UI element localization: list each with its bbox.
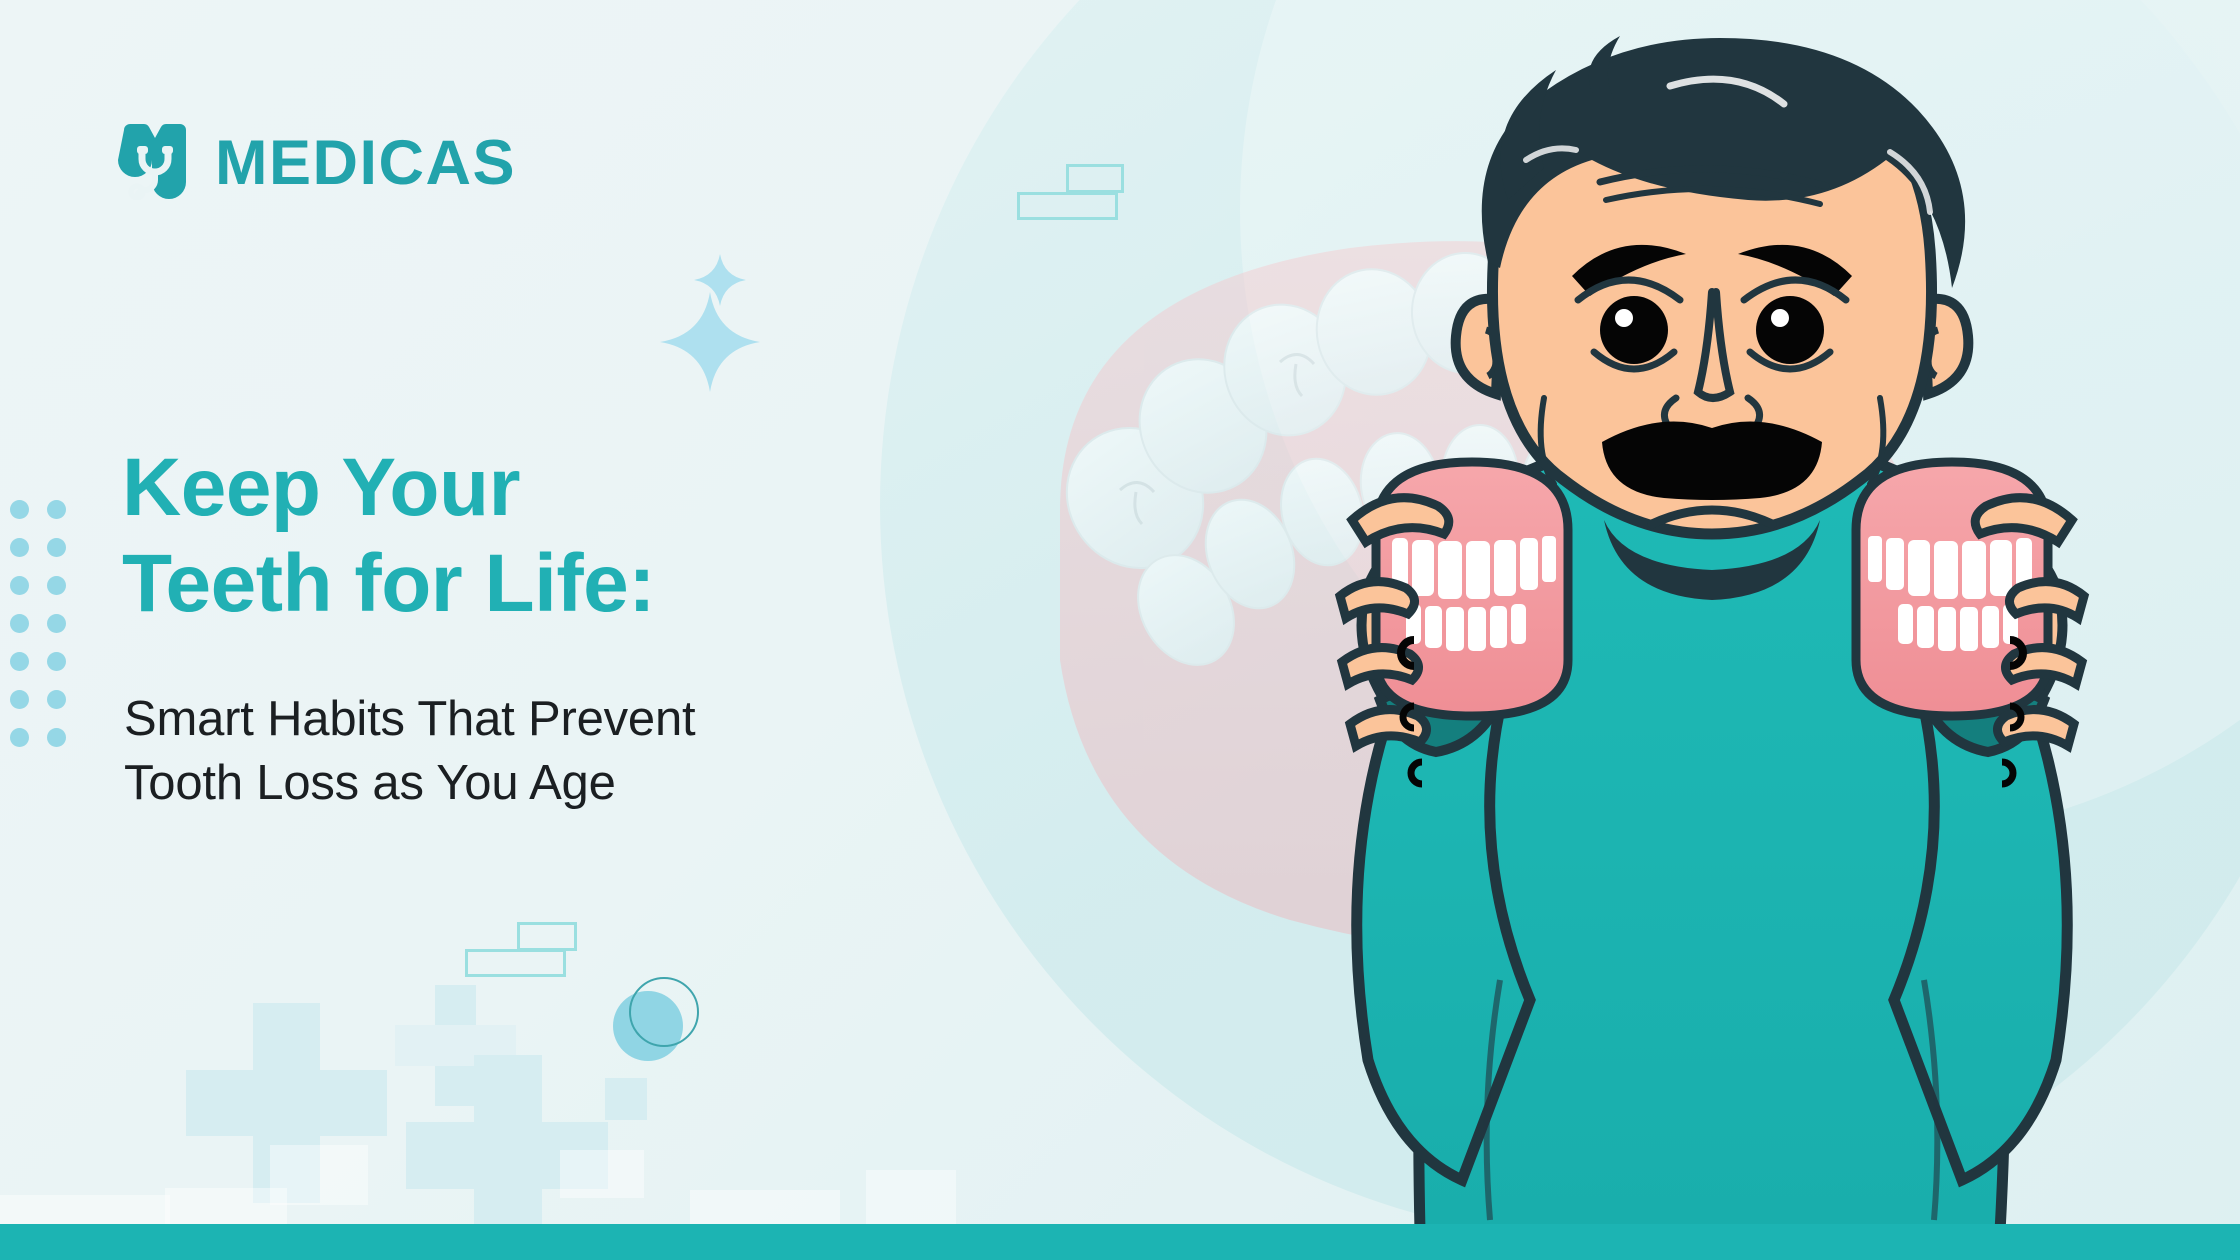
headline-line-1: Keep Your <box>122 440 902 536</box>
medical-m-stethoscope-icon <box>118 122 190 205</box>
brand-name: MEDICAS <box>215 132 516 195</box>
mosaic-tile <box>165 1188 287 1228</box>
mosaic-tile <box>560 1150 644 1198</box>
medical-cross-small-mid <box>435 985 476 1106</box>
headline-block: Keep Your Teeth for Life: <box>122 440 902 632</box>
subheadline-block: Smart Habits That Prevent Tooth Loss as … <box>124 688 695 815</box>
character-illustration <box>1200 0 2210 1232</box>
rect-outline-top-lower <box>1017 192 1118 220</box>
sparkle-large-icon <box>660 292 760 397</box>
rect-outline-top-upper <box>1066 164 1124 193</box>
brand-logo[interactable]: MEDICAS <box>118 122 516 205</box>
medical-cross-edge-right <box>605 1078 647 1120</box>
hero-banner: MEDICAS Keep Your Teeth for Life: Smart … <box>0 0 2240 1260</box>
mosaic-tile <box>690 1190 840 1226</box>
subheadline-line-2: Tooth Loss as You Age <box>124 752 695 816</box>
rect-outline-bottom-lower <box>465 949 566 977</box>
mosaic-tile <box>866 1170 956 1226</box>
subheadline-line-1: Smart Habits That Prevent <box>124 688 695 752</box>
headline-line-2: Teeth for Life: <box>122 536 902 632</box>
rect-outline-bottom-upper <box>517 922 577 951</box>
circle-outline-decoration <box>629 977 699 1047</box>
bottom-accent-bar <box>0 1224 2240 1260</box>
